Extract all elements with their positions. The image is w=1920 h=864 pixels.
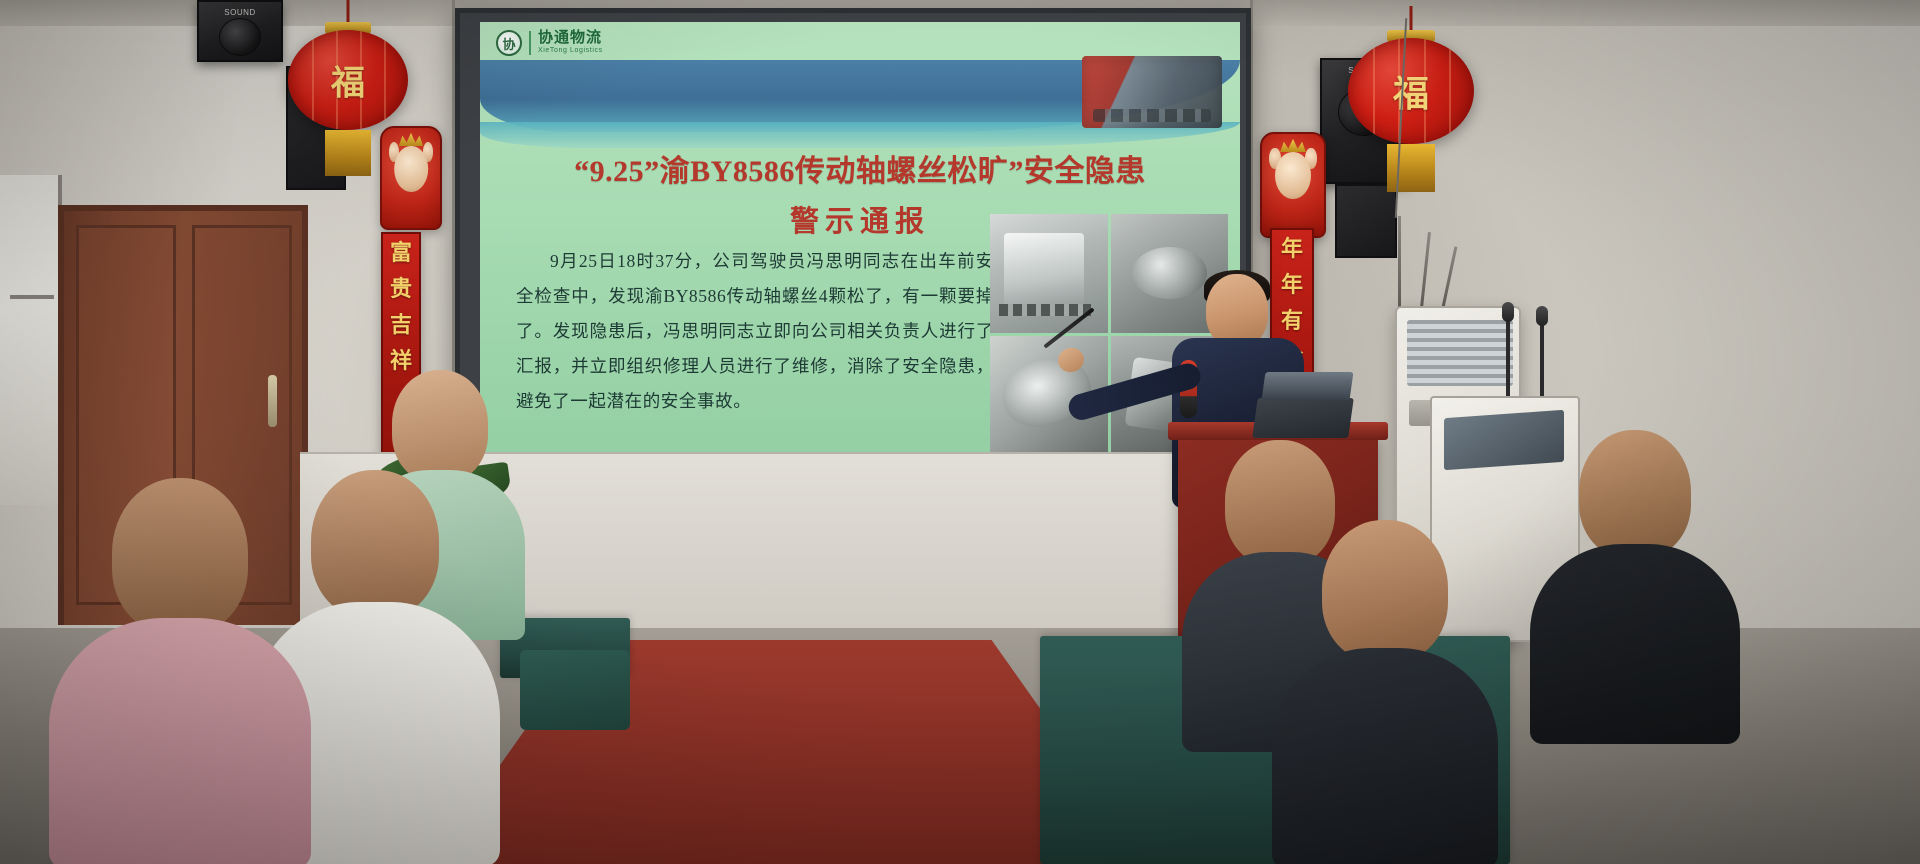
company-name-cn: 协通物流 bbox=[538, 31, 603, 47]
window-left bbox=[0, 175, 62, 505]
desk-microphone-1 bbox=[1506, 316, 1510, 402]
company-name-en: XieTong Logistics bbox=[538, 47, 603, 54]
couplet-char: 祥 bbox=[390, 350, 412, 372]
speaker-brand-label: SOUND bbox=[224, 8, 255, 17]
slide-title: “9.25”渝BY8586传动轴螺丝松旷”安全隐患 bbox=[480, 146, 1240, 190]
tiger-mascot-left bbox=[380, 126, 442, 230]
wall-speaker-left: SOUND bbox=[197, 0, 283, 62]
couplet-char: 吉 bbox=[390, 314, 412, 336]
lantern-body: 福 bbox=[288, 30, 408, 130]
audience-member-5 bbox=[1285, 520, 1485, 864]
mascot-crown-icon-right bbox=[1280, 138, 1306, 152]
lantern-glyph-right: 福 bbox=[1393, 65, 1429, 117]
lantern-tassel bbox=[325, 130, 371, 176]
speaker-cone-icon bbox=[219, 18, 261, 56]
ac-vent-grille bbox=[1407, 320, 1513, 386]
logo-divider bbox=[529, 31, 531, 55]
couplet-char: 贵 bbox=[390, 278, 412, 300]
meeting-room-scene: SOUND SOUND 福 福 bbox=[0, 0, 1920, 864]
couplet-char: 年 bbox=[1281, 238, 1303, 260]
red-lantern-right: 福 bbox=[1348, 38, 1474, 144]
lantern-glyph: 福 bbox=[331, 56, 365, 105]
audience-member-1 bbox=[70, 478, 290, 864]
lantern-body-right: 福 bbox=[1348, 38, 1474, 144]
mascot-face bbox=[394, 146, 428, 192]
tiger-mascot-right bbox=[1260, 132, 1326, 238]
red-lantern-left: 福 bbox=[288, 30, 408, 130]
door-handle[interactable] bbox=[268, 375, 277, 427]
presenter-head bbox=[1206, 274, 1268, 348]
audience-member-6 bbox=[1540, 430, 1730, 730]
lantern-tassel-right bbox=[1387, 144, 1435, 192]
laptop[interactable] bbox=[1252, 398, 1354, 438]
truck-photo-decoration bbox=[1082, 56, 1222, 128]
mascot-crown-icon bbox=[399, 132, 423, 146]
desk-microphone-2 bbox=[1540, 320, 1544, 400]
speaker-mount-right bbox=[1335, 184, 1397, 258]
window-sash bbox=[10, 295, 54, 299]
antenna-icon-1 bbox=[1398, 216, 1401, 308]
slide-body-text: 9月25日18时37分，公司驾驶员冯思明同志在出车前安全检查中，发现渝BY858… bbox=[516, 244, 994, 419]
audience-chair bbox=[520, 650, 630, 730]
company-logo: 协 协通物流 XieTong Logistics bbox=[496, 30, 603, 56]
truck-front-photo bbox=[990, 214, 1108, 333]
laptop-screen bbox=[1262, 372, 1354, 400]
couplet-char: 富 bbox=[390, 242, 412, 264]
logo-mark-icon: 协 bbox=[496, 30, 522, 56]
mascot-face-right bbox=[1275, 152, 1311, 199]
